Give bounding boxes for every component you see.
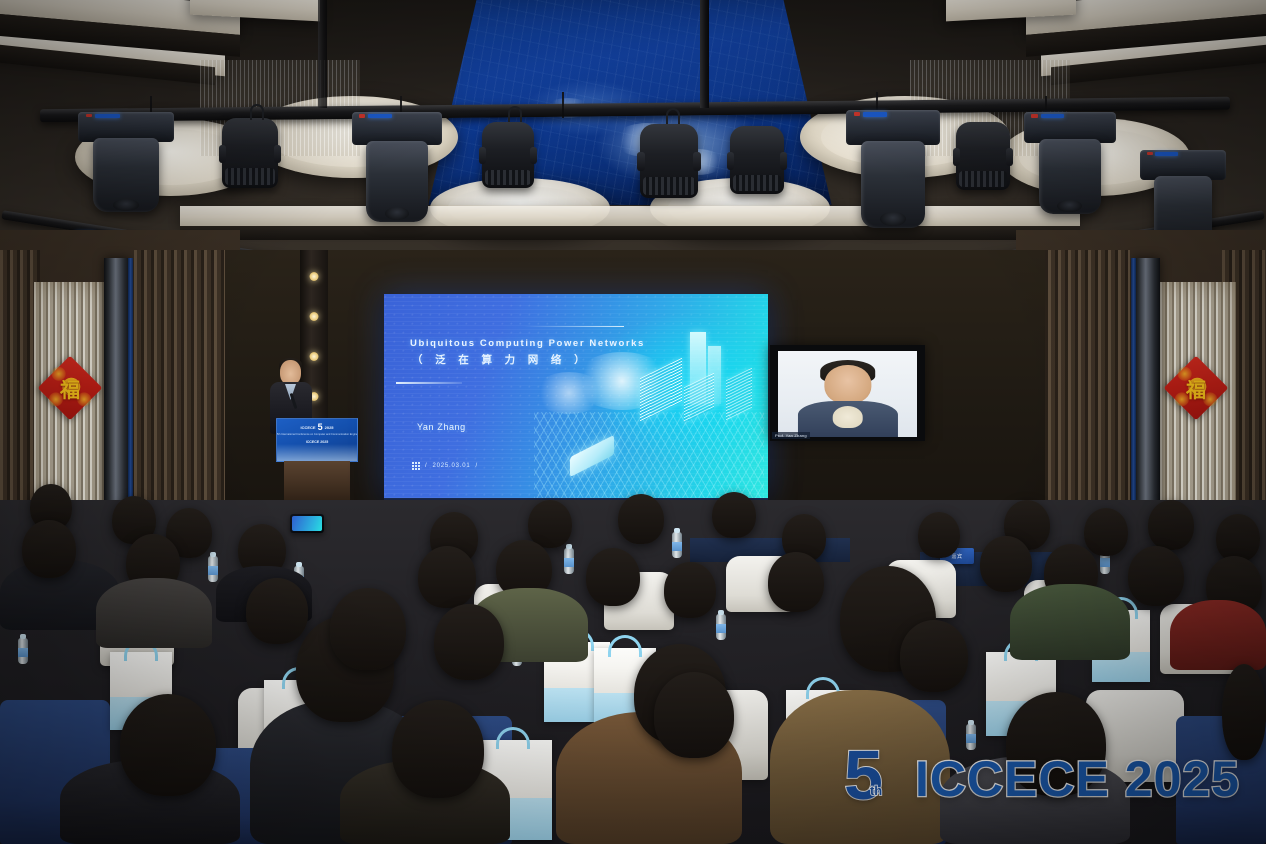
par-can-light (482, 122, 534, 188)
audience-head-front (654, 672, 734, 758)
podium-logo-number: 5 (318, 423, 323, 432)
slide-footer-sep1: / (425, 463, 427, 469)
audience-head (1216, 514, 1260, 562)
remote-participant-face (824, 365, 871, 405)
audience-head-front (1222, 664, 1266, 760)
water-bottle (208, 556, 218, 582)
video-call-inset: Prof. Yan Zhang (770, 345, 925, 441)
water-bottle (672, 532, 682, 558)
audience-head (1148, 500, 1194, 550)
video-feed (778, 351, 917, 437)
podium-logo: ICCECE 5 2025 (300, 423, 333, 432)
water-bottle (966, 724, 976, 750)
podium: ICCECE 5 2025 2025 5th International Con… (276, 418, 358, 506)
slide-footer-sep2: / (476, 463, 478, 469)
podium-logo-year: 2025 (325, 425, 334, 430)
par-can-light (640, 124, 698, 198)
audience-head (918, 512, 960, 558)
moving-head-light (846, 110, 940, 228)
slide-title-cn: （ 泛 在 算 力 网 络 ） (412, 352, 589, 367)
audience-head (1084, 508, 1128, 556)
audience-head-front (246, 578, 308, 644)
slide-author: Yan Zhang (417, 422, 466, 432)
slide-rule (524, 326, 624, 327)
audience-head (664, 562, 716, 618)
audience-head (1128, 546, 1184, 606)
fu-character: 福 (47, 365, 93, 411)
water-bottle (18, 638, 28, 664)
par-can-light (956, 122, 1010, 190)
audience-head (768, 552, 824, 612)
smartphone-recording (290, 514, 324, 533)
moving-head-light (1024, 112, 1116, 214)
slide-circuit-grid (534, 412, 764, 498)
presentation-slide: Ubiquitous Computing Power Networks （ 泛 … (384, 294, 768, 498)
audience-head-front (1006, 692, 1106, 796)
grid-icon (412, 462, 420, 470)
slide-title-en: Ubiquitous Computing Power Networks (410, 338, 645, 349)
par-can-light (730, 126, 784, 194)
audience-head (528, 500, 572, 548)
audience-head (22, 520, 76, 578)
audience-head (586, 548, 640, 606)
moving-head-light (352, 112, 442, 222)
par-can-light (222, 118, 278, 188)
slide-footer: / 2025.03.01 / (412, 462, 478, 470)
podium-banner: ICCECE 5 2025 2025 5th International Con… (276, 418, 358, 462)
audience-head (418, 546, 476, 608)
audience-head-front (120, 694, 216, 796)
projection-screen: Ubiquitous Computing Power Networks （ 泛 … (384, 294, 768, 498)
audience-head-front (900, 620, 968, 692)
audience-head-front (434, 604, 504, 680)
podium-subtitle: 2025 5th International Conference on Com… (276, 433, 358, 436)
audience-head-front (330, 588, 406, 670)
podium-logo-prefix: ICCECE (300, 425, 315, 430)
podium-banner-title: ICCECE 2025 (306, 440, 329, 444)
fu-decoration-left: 福 (37, 355, 102, 420)
fu-character: 福 (1173, 365, 1219, 411)
water-bottle (564, 548, 574, 574)
water-bottle (716, 614, 726, 640)
fu-decoration-right: 福 (1163, 355, 1228, 420)
audience-head (618, 494, 664, 544)
participant-name-label: Prof. Yan Zhang (772, 432, 810, 439)
conference-hall-photo: 福 福 ICCECE 5 2025 20 (0, 0, 1266, 844)
audience-head-front (392, 700, 484, 798)
slide-date: 2025.03.01 (432, 463, 470, 469)
audience-head (980, 536, 1032, 592)
moving-head-light (78, 112, 174, 212)
audience-head (712, 492, 756, 538)
slide-rule-bottom (396, 382, 462, 384)
